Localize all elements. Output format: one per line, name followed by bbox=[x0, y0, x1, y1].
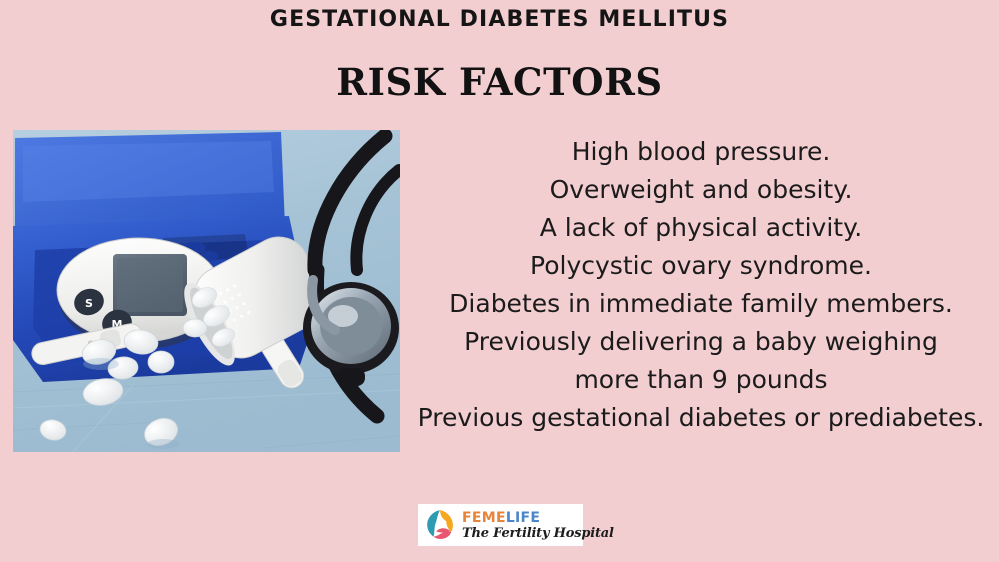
header-block: GESTATIONAL DIABETES MELLITUS RISK FACTO… bbox=[0, 0, 999, 104]
glucose-meter-pills-stethoscope-photo: S M bbox=[13, 130, 400, 452]
risk-factor-item: Polycystic ovary syndrome. bbox=[412, 247, 990, 285]
risk-factor-list: High blood pressure. Overweight and obes… bbox=[412, 133, 990, 437]
risk-factor-item: Overweight and obesity. bbox=[412, 171, 990, 209]
femelife-logo: FEMELIFE The Fertility Hospital bbox=[418, 504, 583, 546]
risk-factor-item: A lack of physical activity. bbox=[412, 209, 990, 247]
svg-text:S: S bbox=[85, 297, 93, 310]
page-title: RISK FACTORS bbox=[0, 60, 999, 104]
risk-factor-item: Previous gestational diabetes or prediab… bbox=[412, 399, 990, 437]
femelife-tagline: The Fertility Hospital bbox=[462, 527, 614, 540]
risk-factor-item: High blood pressure. bbox=[412, 133, 990, 171]
risk-factor-item: more than 9 pounds bbox=[412, 361, 990, 399]
femelife-trilobe-icon bbox=[423, 508, 457, 542]
femelife-name: FEMELIFE bbox=[462, 511, 614, 525]
femelife-name-part1: FEME bbox=[462, 510, 506, 526]
risk-factor-item: Diabetes in immediate family members. bbox=[412, 285, 990, 323]
trilobe-mark-svg bbox=[423, 508, 457, 542]
femelife-wordmark: FEMELIFE The Fertility Hospital bbox=[462, 511, 614, 540]
photo-illustration: S M bbox=[13, 130, 400, 452]
femelife-name-part2: LIFE bbox=[506, 510, 540, 526]
kicker-heading: GESTATIONAL DIABETES MELLITUS bbox=[0, 6, 999, 34]
risk-factor-item: Previously delivering a baby weighing bbox=[412, 323, 990, 361]
